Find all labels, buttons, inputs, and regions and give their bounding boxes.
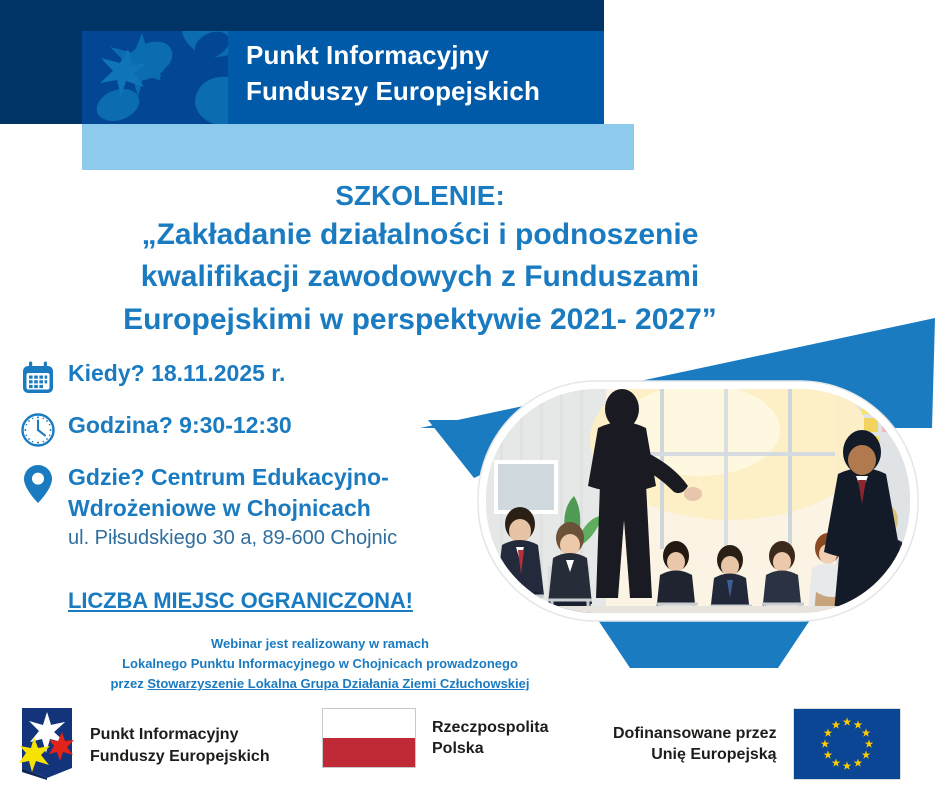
footer-pife-label: Punkt Informacyjny Funduszy Europejskich xyxy=(90,724,270,766)
detail-place-line2: Wdrożeniowe w Chojnicach xyxy=(68,493,478,524)
detail-row-when: Kiedy? 18.11.2025 r. xyxy=(8,358,478,396)
detail-place-address: ul. Piłsudskiego 30 a, 89-600 Chojnic xyxy=(68,525,478,552)
calendar-icon xyxy=(8,358,68,396)
footer-eu-line1: Dofinansowane przez xyxy=(613,725,777,742)
webinar-note: Webinar jest realizowany w ramach Lokaln… xyxy=(60,634,580,694)
detail-time-text: Godzina? 9:30-12:30 xyxy=(68,410,478,441)
limited-seats-notice: LICZBA MIEJSC OGRANICZONA! xyxy=(68,588,413,614)
poland-flag-icon xyxy=(322,708,416,768)
footer-poland-block: Rzeczpospolita Polska xyxy=(322,708,548,768)
footer-pife-line2: Funduszy Europejskich xyxy=(90,748,270,765)
eu-flag-icon xyxy=(793,708,901,780)
footer-pife-line1: Punkt Informacyjny xyxy=(90,726,238,743)
detail-place-line1: Gdzie? Centrum Edukacyjno- xyxy=(68,462,478,493)
note-line3-prefix: przez xyxy=(110,676,147,691)
footer-pife-block: Punkt Informacyjny Funduszy Europejskich xyxy=(18,706,270,785)
event-details: Kiedy? 18.11.2025 r. xyxy=(8,358,478,554)
note-line2: Lokalnego Punktu Informacyjnego w Chojni… xyxy=(60,654,580,674)
footer-eu-block: Dofinansowane przez Unię Europejską xyxy=(613,708,901,780)
title-line-1: „Zakładanie działalności i podnoszenie xyxy=(60,214,780,257)
page-title: SZKOLENIE: „Zakładanie działalności i po… xyxy=(60,178,780,342)
note-line3: przez Stowarzyszenie Lokalna Grupa Dział… xyxy=(60,674,580,694)
footer-logos: Punkt Informacyjny Funduszy Europejskich… xyxy=(0,700,940,788)
detail-row-place: Gdzie? Centrum Edukacyjno- Wdrożeniowe w… xyxy=(8,462,478,552)
title-line-3: Europejskimi w perspektywie 2021- 2027” xyxy=(60,299,780,342)
footer-eu-label: Dofinansowane przez Unię Europejską xyxy=(613,723,777,765)
poster-canvas: Punkt Informacyjny Funduszy Europejskich xyxy=(0,0,940,788)
detail-place-text: Gdzie? Centrum Edukacyjno- Wdrożeniowe w… xyxy=(68,462,478,552)
detail-when-text: Kiedy? 18.11.2025 r. xyxy=(68,358,478,389)
pife-star-pattern-icon xyxy=(82,31,228,124)
title-line-2: kwalifikacji zawodowych z Funduszami xyxy=(60,256,780,299)
footer-eu-line2: Unię Europejską xyxy=(651,746,776,763)
footer-poland-label: Rzeczpospolita Polska xyxy=(432,717,548,759)
footer-poland-line2: Polska xyxy=(432,740,484,757)
header-lightblue-band-right xyxy=(300,124,634,170)
note-line1: Webinar jest realizowany w ramach xyxy=(60,634,580,654)
header-title-line2: Funduszy Europejskich xyxy=(246,74,606,110)
footer-poland-line1: Rzeczpospolita xyxy=(432,719,548,736)
header-title: Punkt Informacyjny Funduszy Europejskich xyxy=(246,38,606,110)
header-lightblue-band-left xyxy=(82,124,300,170)
note-organizer-link[interactable]: Stowarzyszenie Lokalna Grupa Działania Z… xyxy=(147,676,529,691)
title-eyebrow: SZKOLENIE: xyxy=(60,178,780,214)
funds-star-logo-icon xyxy=(18,706,76,785)
header-title-line1: Punkt Informacyjny xyxy=(246,38,606,74)
detail-row-time: Godzina? 9:30-12:30 xyxy=(8,410,478,448)
map-pin-icon xyxy=(8,462,68,504)
clock-icon xyxy=(8,410,68,448)
